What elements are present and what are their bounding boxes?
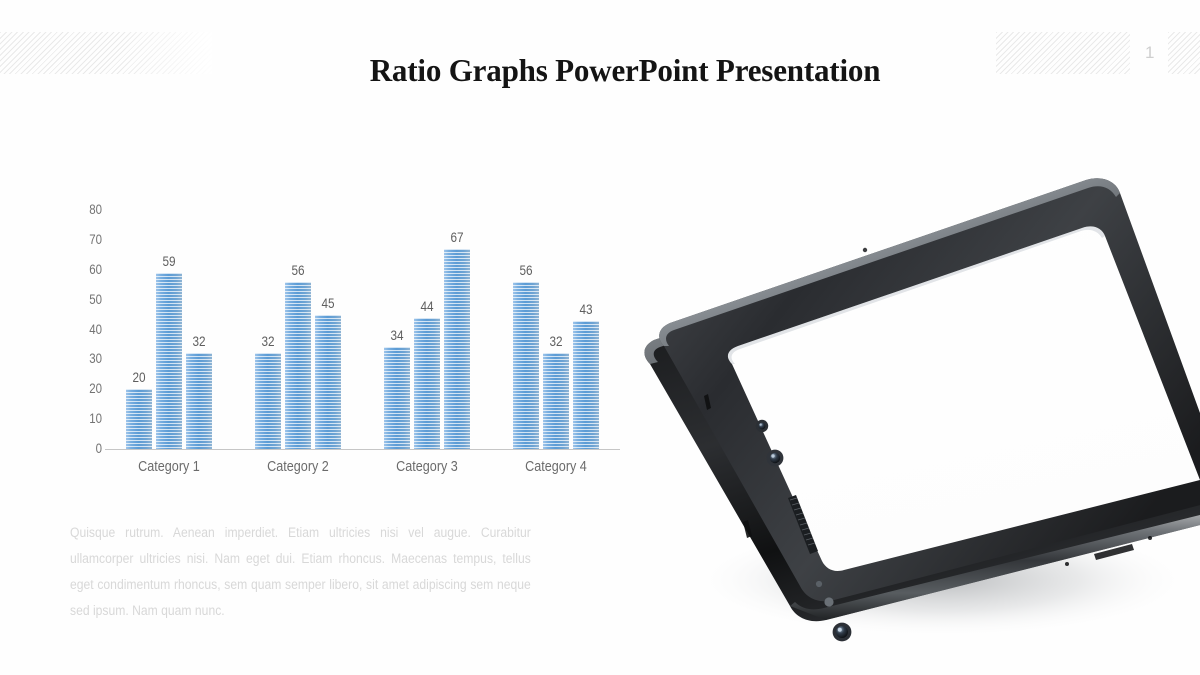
bar-value-label: 32 <box>250 333 285 349</box>
bar-item[interactable]: 20 <box>126 363 152 449</box>
bar[interactable] <box>315 315 341 449</box>
x-axis-category-label: Category 2 <box>248 458 349 475</box>
device-sensors <box>756 420 852 642</box>
y-axis: 80706050403020100 <box>60 196 102 456</box>
bar-group: 205932 <box>126 196 212 449</box>
bar-chart: 80706050403020100 2059323256453444675632… <box>60 196 600 496</box>
y-axis-tick-label: 0 <box>74 440 102 456</box>
bar-item[interactable]: 34 <box>384 321 410 449</box>
bar[interactable] <box>186 353 212 449</box>
y-axis-tick-label: 60 <box>74 261 102 277</box>
smartphone-mockup <box>612 150 1200 650</box>
y-axis-tick-label: 20 <box>74 380 102 396</box>
bar-item[interactable]: 44 <box>414 292 440 449</box>
bar[interactable] <box>573 321 599 449</box>
earpiece-speaker-grille <box>788 495 818 554</box>
bar-value-label: 34 <box>379 327 414 343</box>
volume-button <box>743 520 752 538</box>
front-camera-icon <box>833 623 852 642</box>
bar[interactable] <box>156 273 182 449</box>
proximity-sensor-icon <box>756 420 768 432</box>
bar[interactable] <box>285 282 311 449</box>
y-axis-tick-label: 40 <box>74 321 102 337</box>
bar-item[interactable]: 32 <box>543 327 569 449</box>
bar-item[interactable]: 67 <box>444 223 470 449</box>
bar-value-label: 56 <box>508 262 543 278</box>
bar-item[interactable]: 32 <box>186 327 212 449</box>
iris-scanner-icon <box>767 450 784 467</box>
y-axis-tick-label: 50 <box>74 291 102 307</box>
page-title: Ratio Graphs PowerPoint Presentation <box>19 52 1200 89</box>
y-axis-tick-label: 70 <box>74 231 102 247</box>
bar-value-label: 59 <box>152 253 187 269</box>
chart-plot-area: 205932325645344467563243 <box>105 196 620 449</box>
y-axis-tick-label: 30 <box>74 350 102 366</box>
bar-item[interactable]: 59 <box>156 247 182 449</box>
bar[interactable] <box>444 249 470 449</box>
bar-value-label: 43 <box>568 301 603 317</box>
bar[interactable] <box>255 353 281 449</box>
bar[interactable] <box>126 389 152 449</box>
device-body <box>644 192 1200 621</box>
x-axis-category-label: Category 1 <box>119 458 220 475</box>
bar-item[interactable]: 56 <box>285 256 311 449</box>
bar-value-label: 56 <box>280 262 315 278</box>
bar-value-label: 44 <box>409 298 444 314</box>
bar-item[interactable]: 32 <box>255 327 281 449</box>
bar-value-label: 45 <box>310 295 345 311</box>
bar-value-label: 32 <box>182 333 217 349</box>
bar-group: 563243 <box>513 196 599 449</box>
x-axis-category-label: Category 4 <box>505 458 606 475</box>
microphone-dot <box>863 248 867 252</box>
x-axis-line <box>105 449 620 450</box>
bar[interactable] <box>414 318 440 449</box>
bar-value-label: 20 <box>122 369 157 385</box>
smartphone-mockup-svg <box>612 150 1200 650</box>
y-axis-tick-label: 10 <box>74 410 102 426</box>
bar-item[interactable]: 43 <box>573 295 599 449</box>
device-front <box>659 178 1200 601</box>
bar-value-label: 67 <box>439 229 474 245</box>
y-axis-tick-label: 80 <box>74 201 102 217</box>
device-side-buttons <box>704 394 752 538</box>
light-sensor-icon <box>824 597 833 606</box>
bar[interactable] <box>384 347 410 449</box>
bar-item[interactable]: 56 <box>513 256 539 449</box>
x-axis-category-label: Category 3 <box>376 458 477 475</box>
body-paragraph: Quisque rutrum. Aenean imperdiet. Etiam … <box>70 520 531 624</box>
device-shadow <box>692 522 1192 638</box>
status-led-icon <box>816 581 822 587</box>
bar[interactable] <box>513 282 539 449</box>
bar-value-label: 32 <box>538 333 573 349</box>
bar[interactable] <box>543 353 569 449</box>
bar-group: 325645 <box>255 196 341 449</box>
device-bottom-ports <box>1065 536 1152 566</box>
power-button <box>704 394 711 410</box>
bar-item[interactable]: 45 <box>315 289 341 449</box>
bar-group: 344467 <box>384 196 470 449</box>
